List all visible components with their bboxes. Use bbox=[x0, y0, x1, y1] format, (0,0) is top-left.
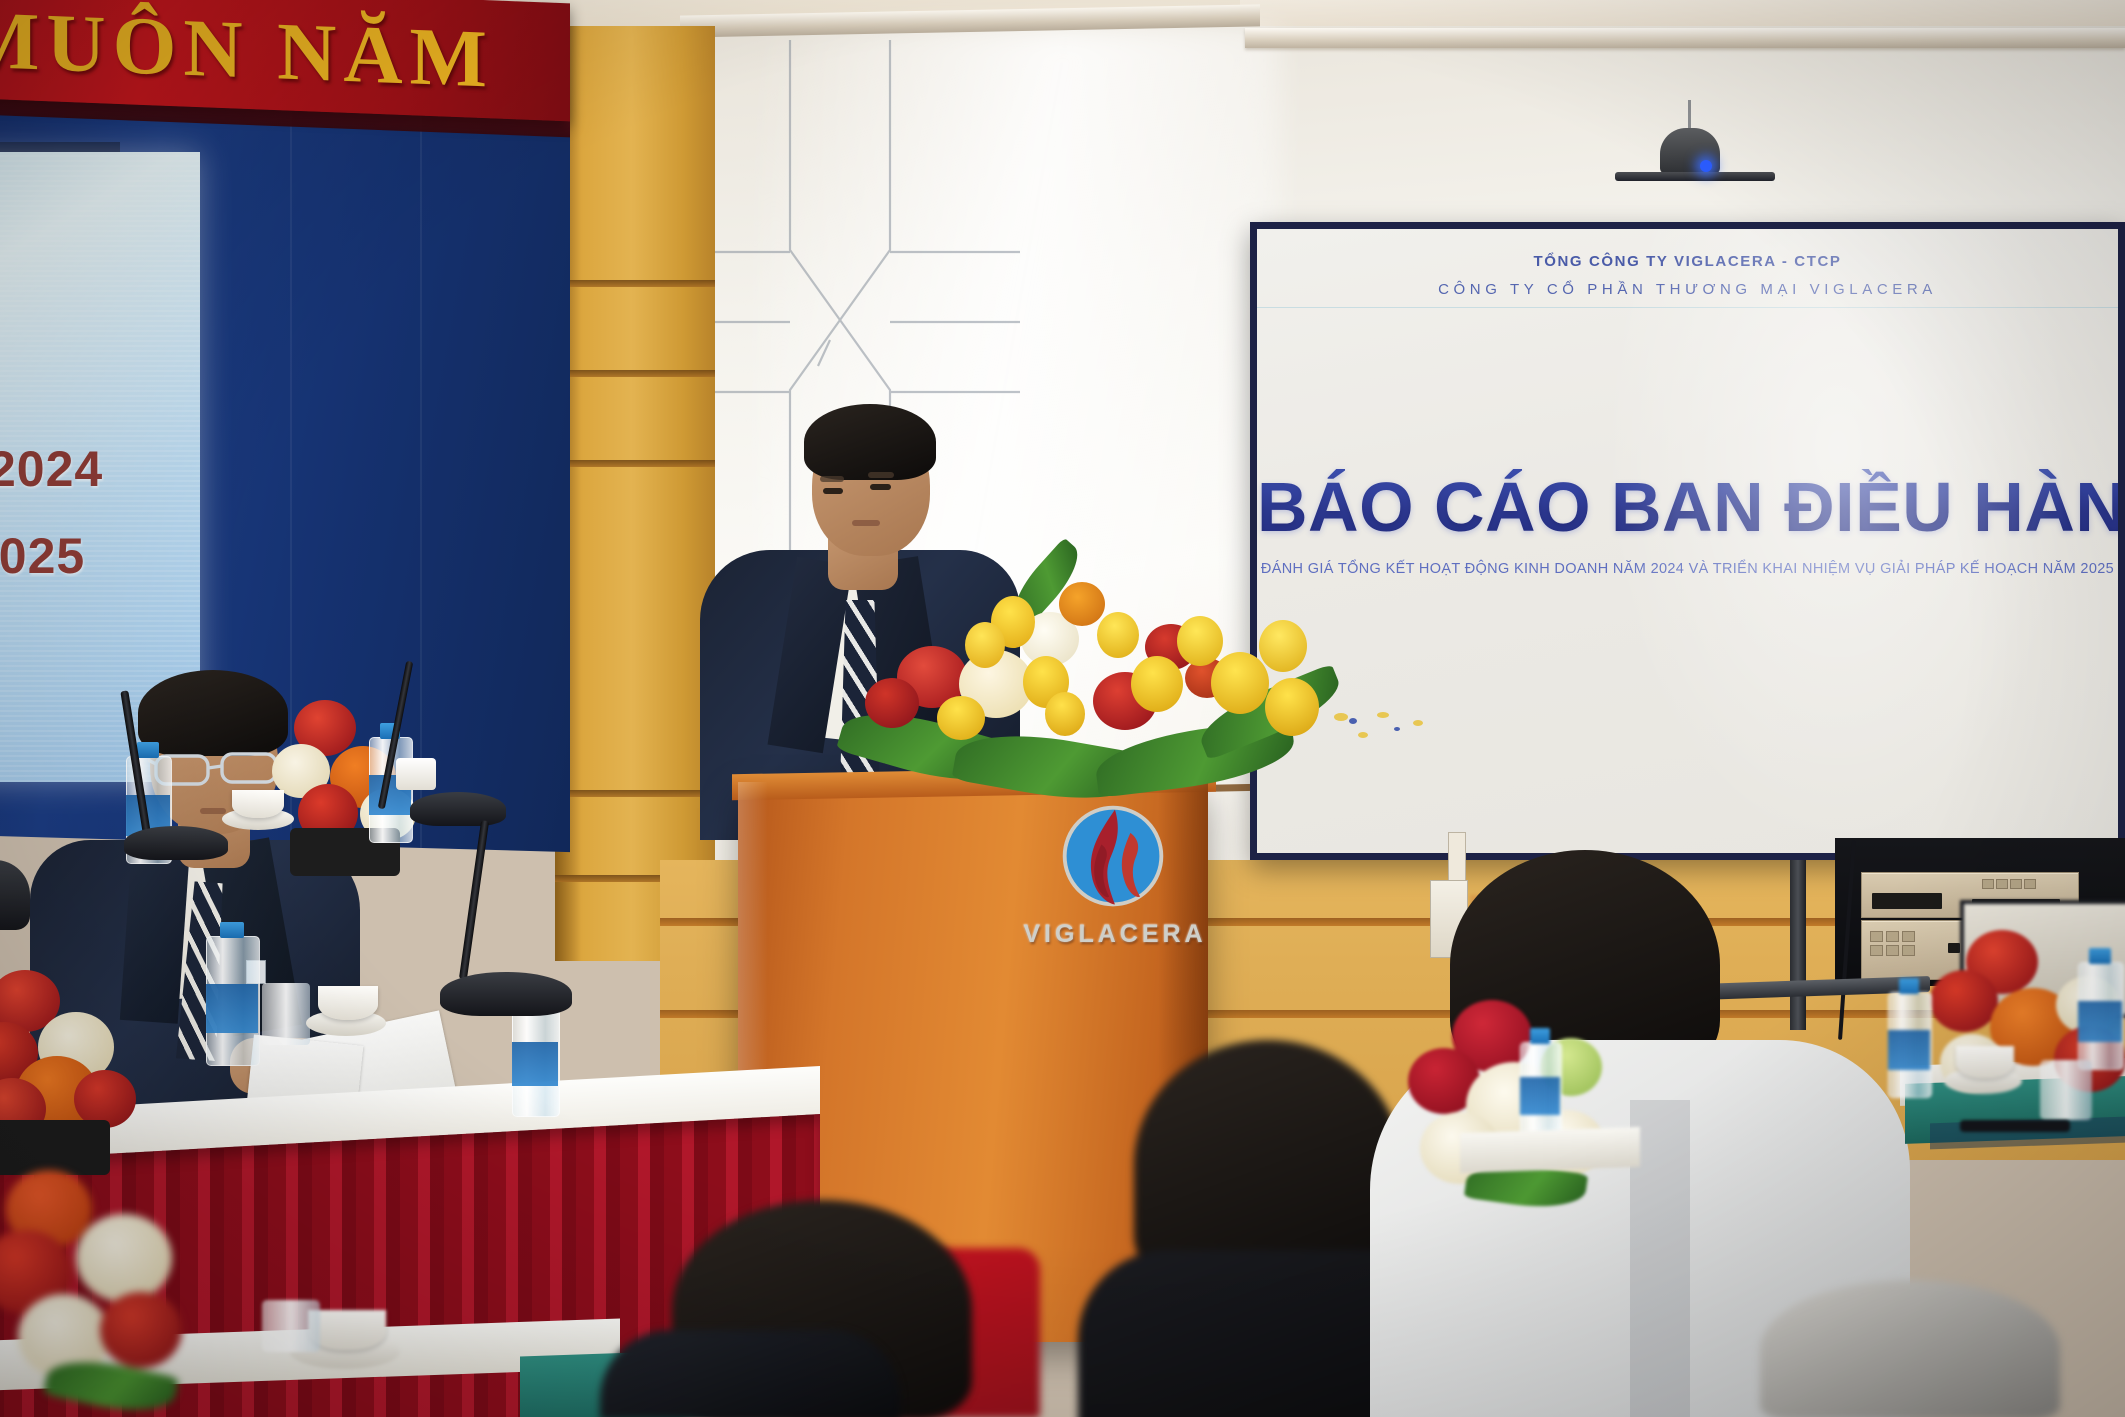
flower-bouquet bbox=[0, 960, 170, 1160]
speaker-eye-left bbox=[823, 488, 843, 494]
teacup[interactable] bbox=[396, 758, 436, 790]
left-screen-year-2025: 2025 bbox=[0, 527, 85, 585]
column-groove bbox=[555, 280, 715, 287]
water-bottle[interactable] bbox=[2078, 948, 2122, 1068]
drinking-glass[interactable] bbox=[2040, 1060, 2092, 1120]
speaker-eyebrow-left bbox=[820, 476, 844, 482]
water-bottle[interactable] bbox=[1520, 1028, 1560, 1140]
teacup[interactable] bbox=[318, 986, 378, 1020]
speaker-eye-right bbox=[870, 484, 891, 490]
drinking-glass[interactable] bbox=[262, 1300, 320, 1352]
conference-hall-photo: MUÔN NĂM 2024 2025 TỔNG CÔNG TY VIGLACER… bbox=[0, 0, 2125, 1417]
left-screen-year-2024: 2024 bbox=[0, 440, 103, 498]
slide-surface: TỔNG CÔNG TY VIGLACERA - CTCP CÔNG TY CỔ… bbox=[1257, 229, 2118, 853]
water-bottle[interactable] bbox=[1888, 978, 1930, 1096]
microphone-base bbox=[410, 792, 506, 826]
column-groove bbox=[555, 370, 715, 377]
speaker-hair bbox=[804, 404, 936, 480]
drinking-glass[interactable] bbox=[262, 983, 310, 1045]
audience-shoulders bbox=[600, 1330, 900, 1417]
podium-brand-text: VIGLACERA bbox=[1015, 920, 1215, 949]
official-mouth bbox=[200, 808, 226, 814]
status-led-icon bbox=[1700, 160, 1712, 172]
speaker-eyebrow-right bbox=[868, 472, 894, 478]
water-bottle[interactable] bbox=[206, 922, 258, 1064]
side-table-top bbox=[1460, 1127, 1640, 1173]
slide-decor-marks bbox=[1323, 709, 1453, 755]
podium-flower-arrangement bbox=[845, 560, 1325, 820]
flower-bouquet bbox=[0, 1160, 230, 1417]
desk-nameplate-holder bbox=[0, 860, 30, 930]
speaker-mouth bbox=[852, 520, 880, 526]
slide-glare bbox=[1601, 229, 2075, 853]
teacup[interactable] bbox=[1956, 1046, 2014, 1078]
microphone-base bbox=[440, 972, 572, 1016]
cornice-moulding-right bbox=[1245, 28, 2125, 48]
microphone-base bbox=[124, 826, 228, 860]
pen[interactable] bbox=[1960, 1120, 2070, 1132]
main-projection-screen[interactable]: TỔNG CÔNG TY VIGLACERA - CTCP CÔNG TY CỔ… bbox=[1250, 222, 2125, 860]
audience-grey-hair bbox=[1760, 1280, 2060, 1417]
teacup[interactable] bbox=[232, 790, 284, 818]
ceiling-speaker-bracket bbox=[1615, 172, 1775, 181]
